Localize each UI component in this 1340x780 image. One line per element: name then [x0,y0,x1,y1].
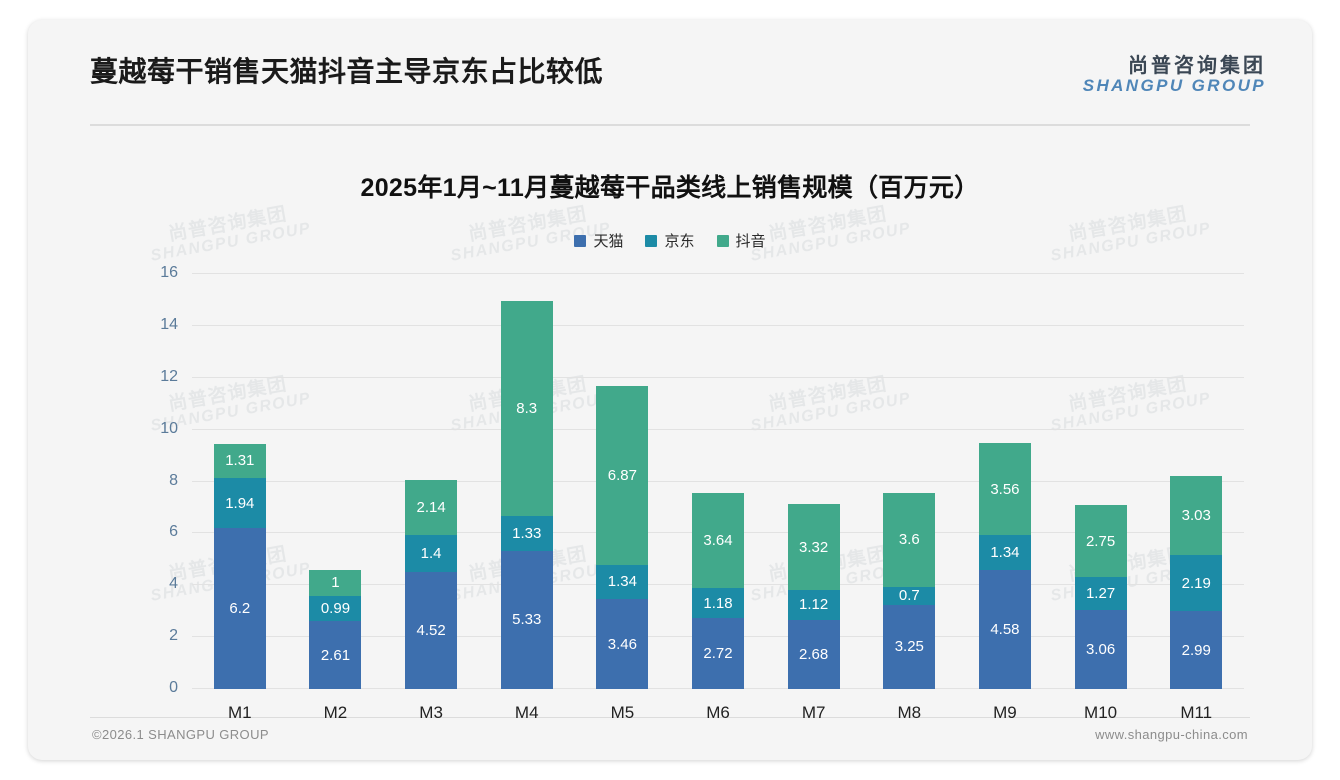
y-axis-tick-label: 4 [169,575,178,593]
bar-value-label: 1 [331,575,339,590]
bar-segment-douyin[interactable]: 2.14 [405,480,457,536]
bar-value-label: 2.99 [1182,643,1211,658]
y-axis-tick-label: 14 [160,316,178,334]
bar-value-label: 1.94 [225,496,254,511]
bar-value-label: 3.46 [608,637,637,652]
bar-stack[interactable]: 3.461.346.87 [596,386,648,689]
bar-stack[interactable]: 2.681.123.32 [788,504,840,689]
bar-stack[interactable]: 3.250.73.6 [883,493,935,689]
y-axis-tick-label: 10 [160,420,178,438]
header-divider [90,124,1250,126]
bar-column[interactable]: 4.521.42.14M3 [383,274,479,689]
y-axis-tick-label: 2 [169,627,178,645]
page-title: 蔓越莓干销售天猫抖音主导京东占比较低 [90,50,603,90]
bar-value-label: 4.58 [990,622,1019,637]
chart-legend: 天猫京东抖音 [28,230,1312,251]
x-axis-tick-label: M5 [575,703,671,723]
bar-column[interactable]: 3.250.73.6M8 [861,274,957,689]
bar-segment-tmall[interactable]: 2.61 [309,621,361,689]
bar-segment-douyin[interactable]: 1.31 [214,444,266,478]
bar-segment-tmall[interactable]: 3.25 [883,605,935,689]
bar-stack[interactable]: 2.610.991 [309,570,361,689]
bar-segment-tmall[interactable]: 4.52 [405,572,457,689]
bar-segment-tmall[interactable]: 6.2 [214,528,266,689]
x-axis-tick-label: M8 [861,703,957,723]
stacked-bar-chart: 天猫京东抖音 6.21.941.31M12.610.991M24.521.42.… [28,218,1312,738]
bar-segment-tmall[interactable]: 2.68 [788,620,840,690]
plot-area: 6.21.941.31M12.610.991M24.521.42.14M35.3… [192,274,1244,689]
bar-column[interactable]: 5.331.338.3M4 [479,274,575,689]
bar-value-label: 3.25 [895,639,924,654]
bar-value-label: 3.32 [799,540,828,555]
footer-copyright: ©2026.1 SHANGPU GROUP [92,727,269,742]
bar-value-label: 1.12 [799,597,828,612]
bar-stack[interactable]: 2.992.193.03 [1170,476,1222,689]
bar-segment-jd[interactable]: 1.33 [501,516,553,550]
bar-segment-jd[interactable]: 1.94 [214,478,266,528]
bar-segment-jd[interactable]: 1.34 [979,535,1031,570]
legend-swatch-icon [645,235,657,247]
bar-segment-douyin[interactable]: 3.03 [1170,476,1222,555]
x-axis-tick-label: M3 [383,703,479,723]
bar-column[interactable]: 2.610.991M2 [288,274,384,689]
bar-value-label: 0.7 [899,588,920,603]
brand-name-cn: 尚普咨询集团 [1083,56,1266,77]
bar-value-label: 1.34 [608,574,637,589]
bar-stack[interactable]: 4.521.42.14 [405,480,457,689]
bar-segment-douyin[interactable]: 8.3 [501,301,553,516]
bar-value-label: 2.75 [1086,534,1115,549]
legend-item-jd[interactable]: 京东 [645,230,694,251]
bar-segment-tmall[interactable]: 3.46 [596,599,648,689]
bar-value-label: 5.33 [512,612,541,627]
y-axis-tick-label: 16 [160,264,178,282]
bar-value-label: 1.33 [512,526,541,541]
bar-value-label: 1.34 [990,545,1019,560]
bar-segment-jd[interactable]: 1.12 [788,590,840,619]
y-axis-tick-label: 12 [160,368,178,386]
bar-segment-tmall[interactable]: 4.58 [979,570,1031,689]
bar-value-label: 4.52 [416,623,445,638]
x-axis-tick-label: M2 [288,703,384,723]
y-axis-tick-label: 0 [169,679,178,697]
y-axis-tick-label: 6 [169,523,178,541]
x-axis-tick-label: M10 [1053,703,1149,723]
bar-segment-jd[interactable]: 0.99 [309,596,361,622]
bar-column[interactable]: 2.721.183.64M6 [670,274,766,689]
bar-segment-jd[interactable]: 1.27 [1075,577,1127,610]
bar-segment-jd[interactable]: 1.34 [596,565,648,600]
x-axis-tick-label: M11 [1148,703,1244,723]
bar-column[interactable]: 4.581.343.56M9 [957,274,1053,689]
x-axis-tick-label: M6 [670,703,766,723]
bar-stack[interactable]: 3.061.272.75 [1075,505,1127,689]
bar-column[interactable]: 2.681.123.32M7 [766,274,862,689]
bar-segment-jd[interactable]: 1.18 [692,588,744,619]
bar-value-label: 0.99 [321,601,350,616]
bar-segment-jd[interactable]: 0.7 [883,587,935,605]
x-axis-tick-label: M9 [957,703,1053,723]
bar-value-label: 1.18 [703,596,732,611]
bar-segment-jd[interactable]: 2.19 [1170,555,1222,612]
bar-segment-douyin[interactable]: 3.64 [692,493,744,587]
brand-logo: 尚普咨询集团 SHANGPU GROUP [1083,56,1266,95]
bar-segment-douyin[interactable]: 3.6 [883,493,935,586]
legend-item-douyin[interactable]: 抖音 [717,230,766,251]
bar-value-label: 3.6 [899,532,920,547]
bar-stack[interactable]: 5.331.338.3 [501,301,553,689]
bar-group: 6.21.941.31M12.610.991M24.521.42.14M35.3… [192,274,1244,689]
bar-value-label: 3.03 [1182,508,1211,523]
bar-value-label: 2.19 [1182,576,1211,591]
bar-value-label: 1.27 [1086,586,1115,601]
bar-column[interactable]: 3.061.272.75M10 [1053,274,1149,689]
legend-label: 天猫 [593,230,623,251]
bar-value-label: 3.64 [703,533,732,548]
bar-value-label: 8.3 [516,401,537,416]
bar-stack[interactable]: 6.21.941.31 [214,444,266,689]
bar-value-label: 6.2 [229,601,250,616]
bar-value-label: 2.61 [321,648,350,663]
brand-name-en: SHANGPU GROUP [1083,77,1266,95]
bar-column[interactable]: 6.21.941.31M1 [192,274,288,689]
bar-column[interactable]: 2.992.193.03M11 [1148,274,1244,689]
bar-segment-douyin[interactable]: 3.32 [788,504,840,590]
footer-website: www.shangpu-china.com [1095,727,1248,742]
x-axis-tick-label: M4 [479,703,575,723]
slide-panel: 蔓越莓干销售天猫抖音主导京东占比较低 尚普咨询集团 SHANGPU GROUP … [28,20,1312,760]
legend-item-tmall[interactable]: 天猫 [574,230,623,251]
chart-title: 2025年1月~11月蔓越莓干品类线上销售规模（百万元） [28,168,1312,204]
bar-value-label: 3.06 [1086,642,1115,657]
bar-value-label: 1.4 [421,546,442,561]
bar-value-label: 6.87 [608,468,637,483]
bar-segment-jd[interactable]: 1.4 [405,535,457,571]
bar-column[interactable]: 3.461.346.87M5 [575,274,671,689]
bar-segment-douyin[interactable]: 3.56 [979,443,1031,535]
legend-swatch-icon [717,235,729,247]
bar-segment-douyin[interactable]: 1 [309,570,361,596]
bar-value-label: 2.72 [703,646,732,661]
legend-swatch-icon [574,235,586,247]
bar-segment-tmall[interactable]: 5.33 [501,551,553,689]
slide-header: 蔓越莓干销售天猫抖音主导京东占比较低 尚普咨询集团 SHANGPU GROUP [28,20,1312,120]
legend-label: 京东 [664,230,694,251]
bar-stack[interactable]: 4.581.343.56 [979,443,1031,689]
bar-value-label: 3.56 [990,482,1019,497]
bar-segment-tmall[interactable]: 2.72 [692,618,744,689]
bar-value-label: 2.14 [416,500,445,515]
x-axis-tick-label: M1 [192,703,288,723]
bar-segment-tmall[interactable]: 2.99 [1170,611,1222,689]
bar-stack[interactable]: 2.721.183.64 [692,493,744,689]
x-axis-tick-label: M7 [766,703,862,723]
bar-segment-douyin[interactable]: 2.75 [1075,505,1127,576]
bar-value-label: 2.68 [799,647,828,662]
y-axis-tick-label: 8 [169,472,178,490]
bar-segment-douyin[interactable]: 6.87 [596,386,648,564]
bar-segment-tmall[interactable]: 3.06 [1075,610,1127,689]
bar-value-label: 1.31 [225,453,254,468]
legend-label: 抖音 [736,230,766,251]
